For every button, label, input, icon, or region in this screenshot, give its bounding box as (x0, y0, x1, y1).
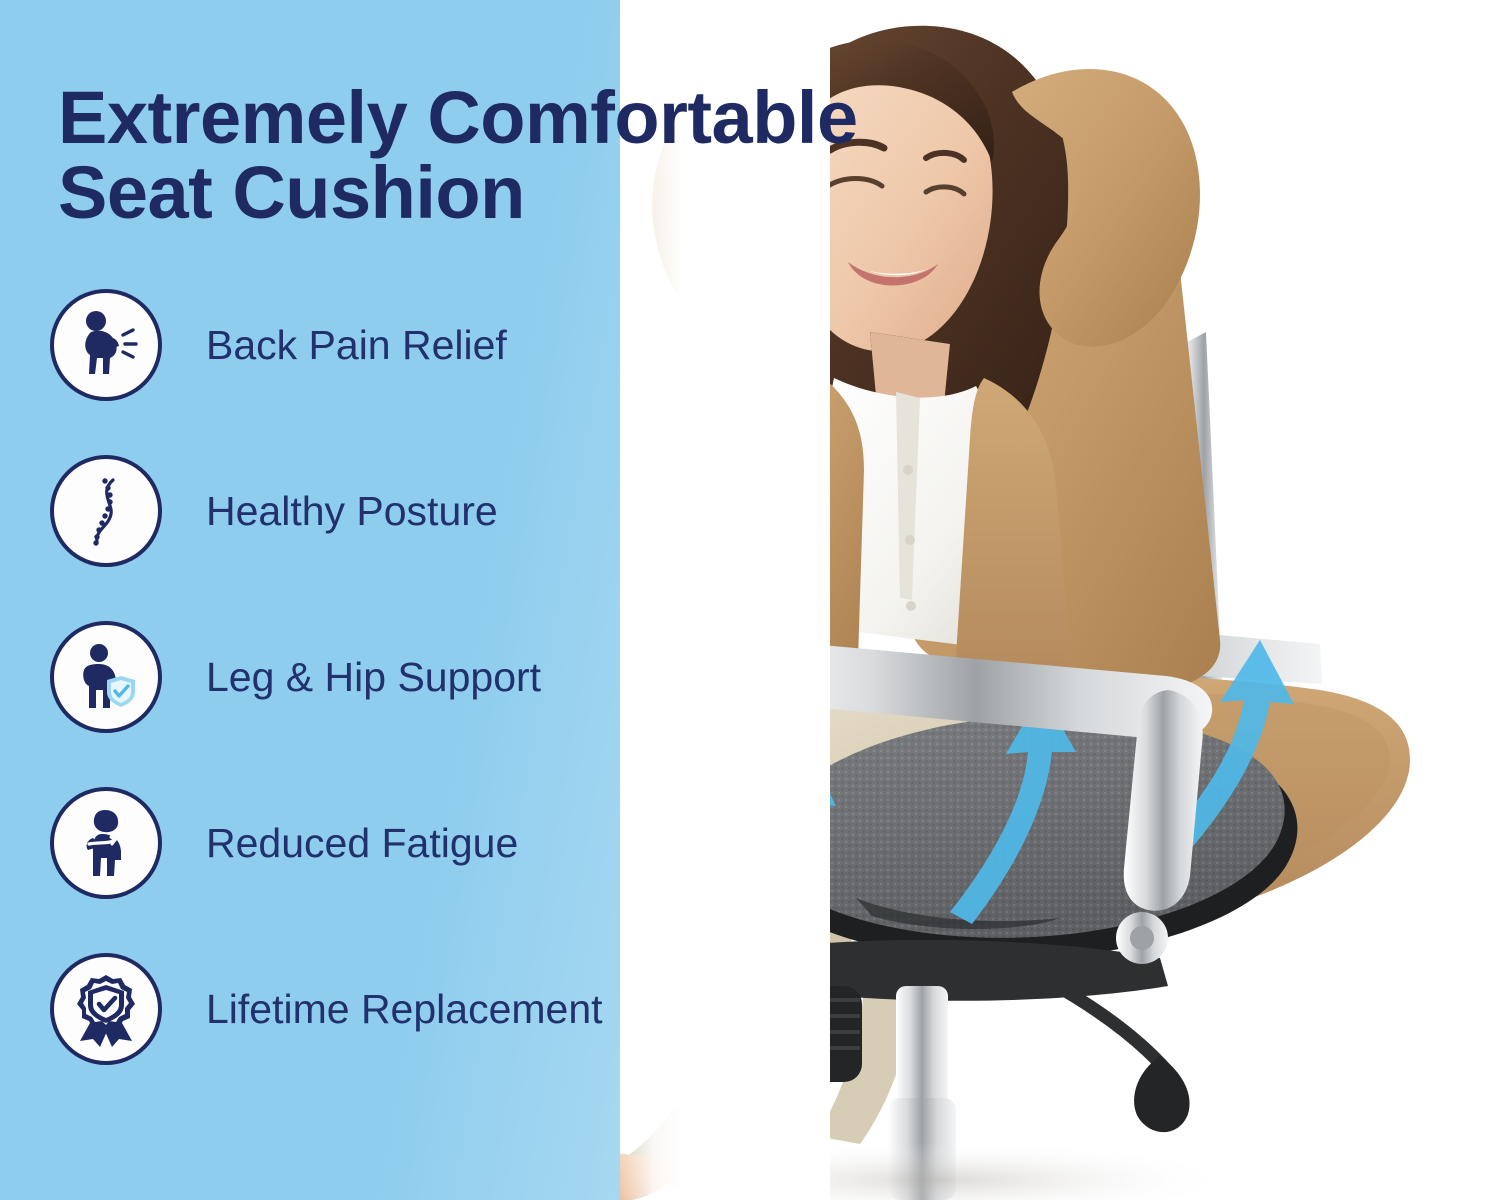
feature-item-reduced-fatigue: Reduced Fatigue (50, 760, 603, 926)
feature-label: Leg & Hip Support (206, 654, 541, 701)
feature-list: Back Pain Relief Healthy Posture (50, 262, 603, 1092)
feature-label: Back Pain Relief (206, 322, 507, 369)
feature-item-leg-hip-support: Leg & Hip Support (50, 594, 603, 760)
headline-line-2: Seat Cushion (58, 155, 1018, 230)
feature-item-back-pain-relief: Back Pain Relief (50, 262, 603, 428)
feature-label: Lifetime Replacement (206, 986, 603, 1033)
feature-icon-badge (50, 787, 162, 899)
feature-icon-badge (50, 455, 162, 567)
rosette-seal (77, 975, 135, 1032)
headline-line-1: Extremely Comfortable (58, 76, 858, 159)
feature-item-lifetime-replacement: Lifetime Replacement (50, 926, 603, 1092)
feature-icon-badge (50, 621, 162, 733)
shield-check-icon (107, 676, 135, 707)
feature-label: Healthy Posture (206, 488, 498, 535)
back-pain-relief-icon (69, 308, 143, 382)
guarantee-badge-icon (68, 971, 144, 1047)
feature-icon-badge (50, 953, 162, 1065)
feature-item-healthy-posture: Healthy Posture (50, 428, 603, 594)
tired-person-icon (69, 806, 143, 880)
feature-icon-badge (50, 289, 162, 401)
spine-posture-icon (69, 474, 143, 548)
person-shield-icon (69, 640, 143, 714)
page-title: Extremely Comfortable Seat Cushion (58, 80, 1018, 231)
product-feature-banner: Extremely Comfortable Seat Cushion (0, 0, 1500, 1200)
feature-label: Reduced Fatigue (206, 820, 518, 867)
